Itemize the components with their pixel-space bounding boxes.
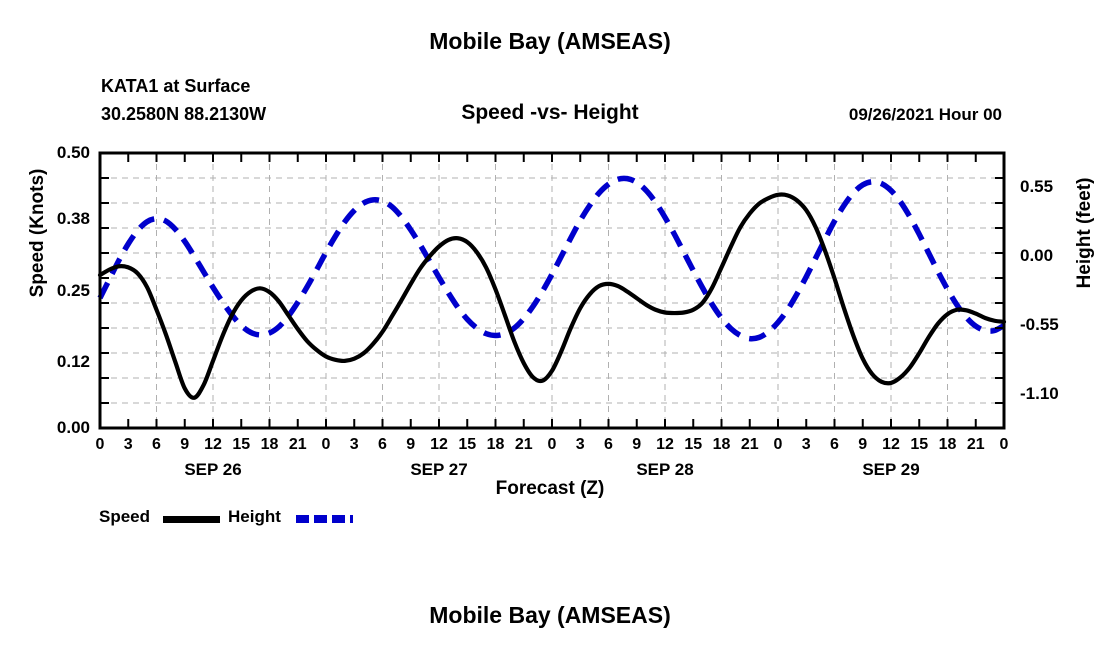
- x-axis-day-label: SEP 27: [384, 460, 494, 480]
- legend-swatch-height: [296, 515, 353, 523]
- x-axis-day-labels: SEP 26SEP 27SEP 28SEP 29: [0, 0, 1100, 650]
- x-axis-day-label: SEP 29: [836, 460, 946, 480]
- x-axis-day-label: SEP 26: [158, 460, 268, 480]
- page-title-bottom: Mobile Bay (AMSEAS): [0, 602, 1100, 629]
- x-axis-day-label: SEP 28: [610, 460, 720, 480]
- legend-label-speed: Speed: [99, 507, 150, 527]
- legend-label-height: Height: [228, 507, 281, 527]
- legend-swatch-speed: [163, 516, 220, 523]
